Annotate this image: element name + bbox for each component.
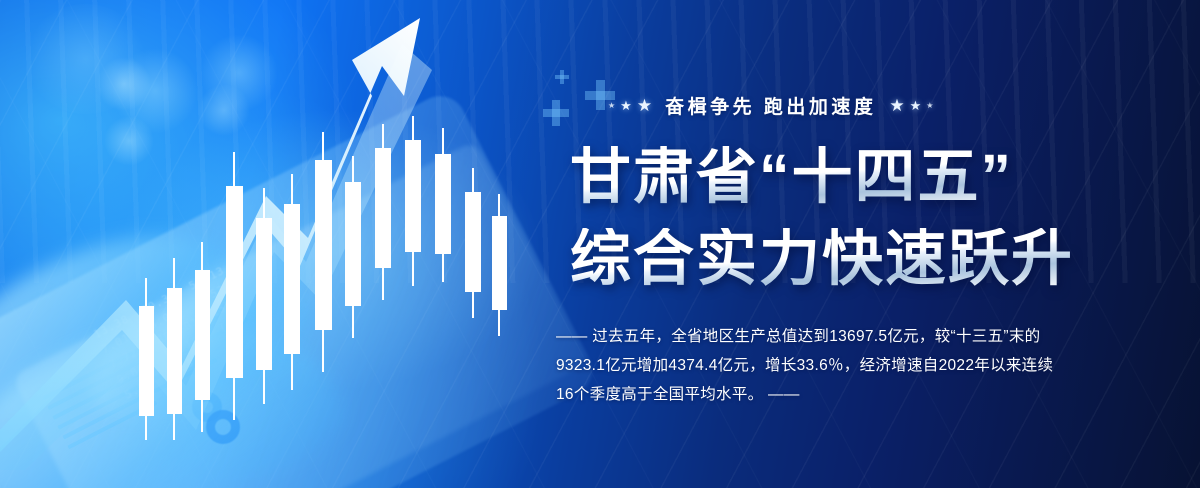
candle-body bbox=[195, 270, 210, 400]
candle-body bbox=[375, 148, 391, 268]
candle-body bbox=[405, 140, 421, 252]
star-icon: ★ bbox=[608, 102, 615, 110]
star-icon: ★ bbox=[910, 99, 922, 112]
tagline-row: ★ ★ ★ 奋楫争先 跑出加速度 ★ ★ ★ bbox=[608, 92, 933, 119]
headline-line-2: 综合实力快速跃升 bbox=[570, 228, 1074, 289]
candle-body bbox=[167, 288, 182, 414]
stars-left-group: ★ ★ ★ bbox=[608, 97, 652, 114]
candle-body bbox=[226, 186, 243, 378]
candle-body bbox=[315, 160, 332, 330]
star-icon: ★ bbox=[889, 97, 904, 114]
content-block: ★ ★ ★ 奋楫争先 跑出加速度 ★ ★ ★ 甘肃省“十四五” 综合实力快速跃升… bbox=[548, 0, 1188, 488]
star-icon: ★ bbox=[620, 99, 632, 112]
summary-paragraph: —— 过去五年，全省地区生产总值达到13697.5亿元，较“十三五”末的 932… bbox=[556, 322, 1056, 409]
star-icon: ★ bbox=[926, 102, 933, 110]
candlestick-chart bbox=[130, 110, 510, 440]
stars-right-group: ★ ★ ★ bbox=[889, 97, 933, 114]
summary-line-1: —— 过去五年，全省地区生产总值达到13697.5亿元，较“十三五”末的 bbox=[556, 322, 1056, 351]
candle-body bbox=[345, 182, 361, 306]
summary-line-2: 9323.1亿元增加4374.4亿元，增长33.6％，经济增速自2022年以来连… bbox=[556, 351, 1056, 380]
candle-body bbox=[256, 218, 272, 370]
candle-body bbox=[435, 154, 451, 254]
candle-body bbox=[465, 192, 481, 292]
tagline-text: 奋楫争先 跑出加速度 bbox=[665, 92, 876, 119]
candle-body bbox=[492, 216, 507, 310]
candle-body bbox=[284, 204, 300, 354]
headline-line-1: 甘肃省“十四五” bbox=[570, 146, 1013, 207]
banner-root: 13.38 30.38 50.13 7.01 6.03 5.53 7.72 86… bbox=[0, 0, 1200, 488]
summary-line-3: 16个季度高于全国平均水平。 —— bbox=[556, 380, 1056, 409]
star-icon: ★ bbox=[637, 97, 652, 114]
candle-body bbox=[139, 306, 154, 416]
